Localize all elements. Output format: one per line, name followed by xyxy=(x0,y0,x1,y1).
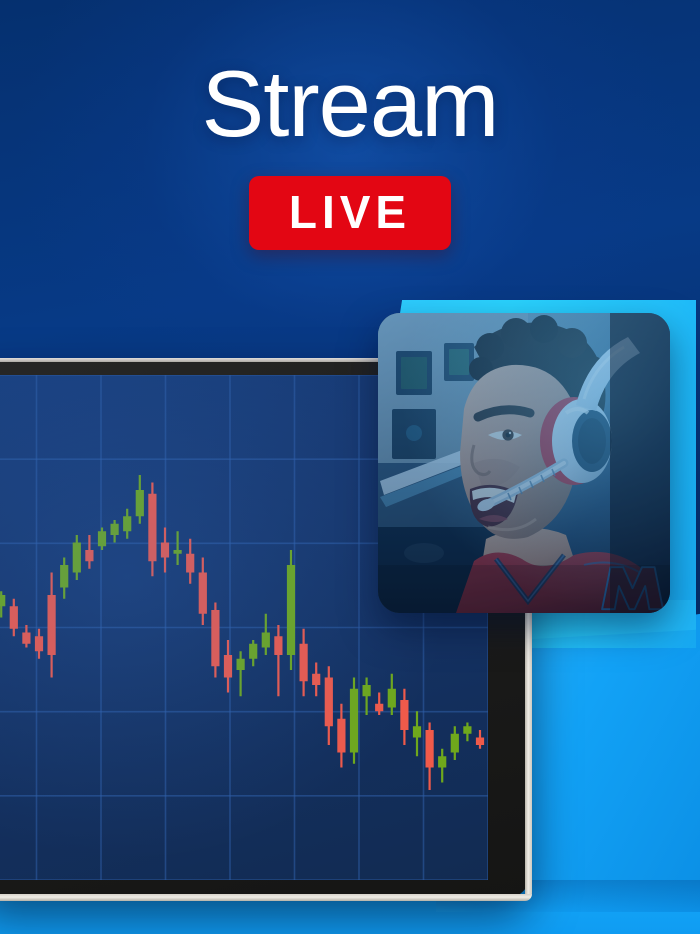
candlestick-bullish xyxy=(73,535,81,580)
candlestick-bearish xyxy=(148,483,156,577)
candlestick-bullish xyxy=(136,475,144,524)
candlestick-bullish xyxy=(249,640,257,666)
candle-body xyxy=(312,674,320,685)
candle-body xyxy=(426,730,434,768)
candlestick-bullish xyxy=(463,723,471,742)
candlestick-bearish xyxy=(211,603,219,678)
candle-body xyxy=(111,524,119,535)
candlestick-bullish xyxy=(174,531,182,565)
candle-body xyxy=(199,573,207,614)
candle-wick xyxy=(177,531,179,565)
candle-body xyxy=(48,595,56,655)
webcam-overlay-card[interactable] xyxy=(378,313,670,613)
candlestick-bearish xyxy=(10,599,18,637)
candlestick-bullish xyxy=(413,711,421,756)
candle-body xyxy=(400,700,408,730)
candle-body xyxy=(237,659,245,670)
candle-body xyxy=(413,726,421,737)
candle-body xyxy=(274,636,282,655)
candlestick-bearish xyxy=(325,666,333,745)
candle-body xyxy=(300,644,308,682)
candle-body xyxy=(0,595,5,606)
poster-canvas: Stream LIVE xyxy=(0,0,700,934)
candlestick-bearish xyxy=(426,723,434,791)
candle-body xyxy=(375,704,383,712)
candlestick-bullish xyxy=(287,550,295,670)
candlestick-bullish xyxy=(438,749,446,783)
candlestick-bullish xyxy=(350,678,358,764)
candle-body xyxy=(388,689,396,708)
candle-body xyxy=(148,494,156,562)
candle-wick xyxy=(277,625,279,696)
candle-body xyxy=(73,543,81,573)
candle-body xyxy=(325,678,333,727)
candle-body xyxy=(211,610,219,666)
candlestick-bearish xyxy=(161,528,169,573)
candle-body xyxy=(363,685,371,696)
candle-body xyxy=(287,565,295,655)
candle-body xyxy=(337,719,345,753)
candlestick-bearish xyxy=(476,730,484,749)
candlestick-bearish xyxy=(199,558,207,626)
candle-body xyxy=(161,543,169,558)
page-title: Stream xyxy=(0,56,700,152)
candle-body xyxy=(476,738,484,746)
candle-body xyxy=(224,655,232,678)
candlestick-bullish xyxy=(111,520,119,543)
candlestick-bullish xyxy=(363,678,371,716)
candle-body xyxy=(85,550,93,561)
candlestick-bearish xyxy=(400,689,408,745)
candlestick-bearish xyxy=(300,629,308,697)
candlestick-bearish xyxy=(48,573,56,678)
candle-wick xyxy=(240,651,242,696)
tablet-bottom-edge xyxy=(0,894,532,901)
headline-block: Stream LIVE xyxy=(0,56,700,250)
candle-body xyxy=(186,554,194,573)
candlestick-bullish xyxy=(98,528,106,551)
candlestick-bullish xyxy=(451,726,459,760)
candlestick-bearish xyxy=(186,539,194,584)
candlestick-bullish xyxy=(123,509,131,539)
candle-body xyxy=(438,756,446,767)
candle-body xyxy=(22,633,30,644)
candlestick-bullish xyxy=(262,614,270,655)
candlestick-bearish xyxy=(312,663,320,697)
candle-body xyxy=(60,565,68,588)
candle-body xyxy=(123,516,131,531)
candlestick-bullish xyxy=(237,651,245,696)
candlestick-bearish xyxy=(337,704,345,768)
candle-body xyxy=(451,734,459,753)
candlestick-bearish xyxy=(85,535,93,569)
candlestick-bearish xyxy=(274,625,282,696)
candlestick-bullish xyxy=(388,674,396,715)
candle-body xyxy=(463,726,471,734)
candle-body xyxy=(35,636,43,651)
candle-body xyxy=(98,531,106,546)
candlestick-bullish xyxy=(0,591,5,617)
candle-body xyxy=(174,550,182,554)
candle-body xyxy=(136,490,144,516)
live-badge[interactable]: LIVE xyxy=(249,176,451,250)
candlestick-bullish xyxy=(60,558,68,599)
candle-body xyxy=(350,689,358,753)
candle-body xyxy=(262,633,270,648)
gamer-webcam-image xyxy=(378,313,670,613)
candle-body xyxy=(10,606,18,629)
candlestick-bearish xyxy=(22,625,30,648)
candle-body xyxy=(249,644,257,659)
candlestick-bearish xyxy=(224,640,232,693)
